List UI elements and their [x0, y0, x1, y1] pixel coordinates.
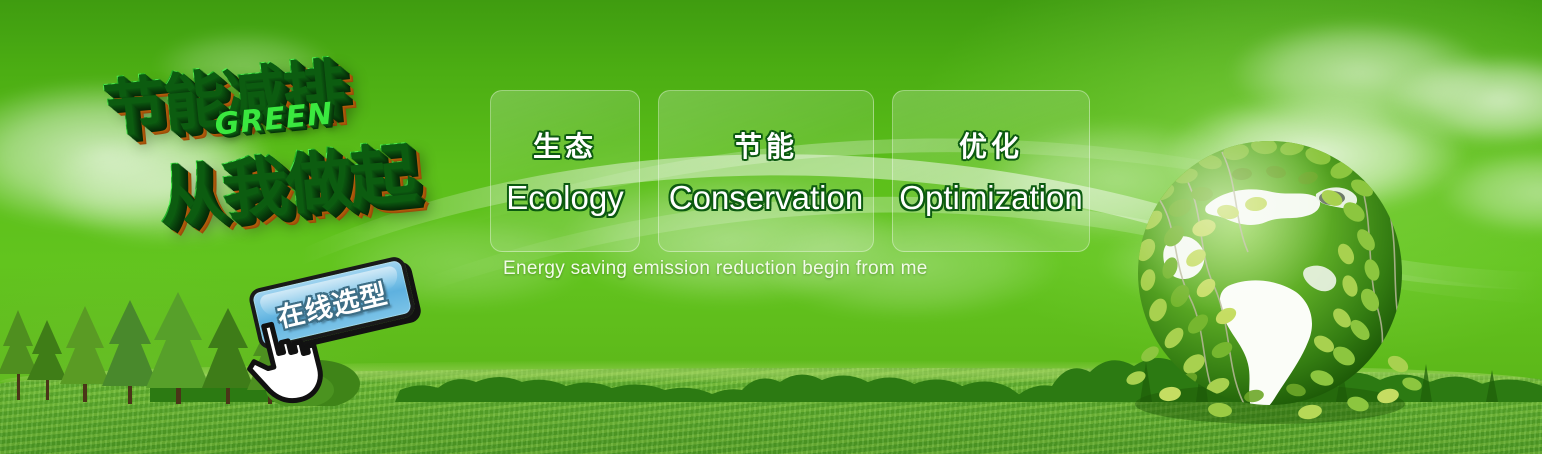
feature-cn-label: 生态: [533, 125, 597, 165]
feature-en-label: Conservation: [669, 179, 863, 217]
feature-en-label: Ecology: [506, 179, 623, 217]
feature-cn-label: 节能: [734, 125, 798, 165]
feature-box-ecology[interactable]: 生态 Ecology: [490, 90, 640, 252]
feature-box-conservation[interactable]: 节能 Conservation: [658, 90, 874, 252]
hand-pointer-icon: [243, 318, 329, 406]
feature-en-label: Optimization: [899, 179, 1082, 217]
banner-subtitle: Energy saving emission reduction begin f…: [503, 258, 928, 280]
green-banner: 节能减排 GREEN 从我做起 在线选型 生态 Ecology 节能 Conse…: [0, 0, 1542, 454]
leaf-covered-globe-icon: [1110, 128, 1440, 428]
feature-cn-label: 优化: [959, 125, 1023, 165]
feature-box-optimization[interactable]: 优化 Optimization: [892, 90, 1090, 252]
feature-boxes: 生态 Ecology 节能 Conservation 优化 Optimizati…: [490, 90, 1090, 252]
logo-3d-headline: 节能减排 GREEN 从我做起: [85, 15, 506, 292]
